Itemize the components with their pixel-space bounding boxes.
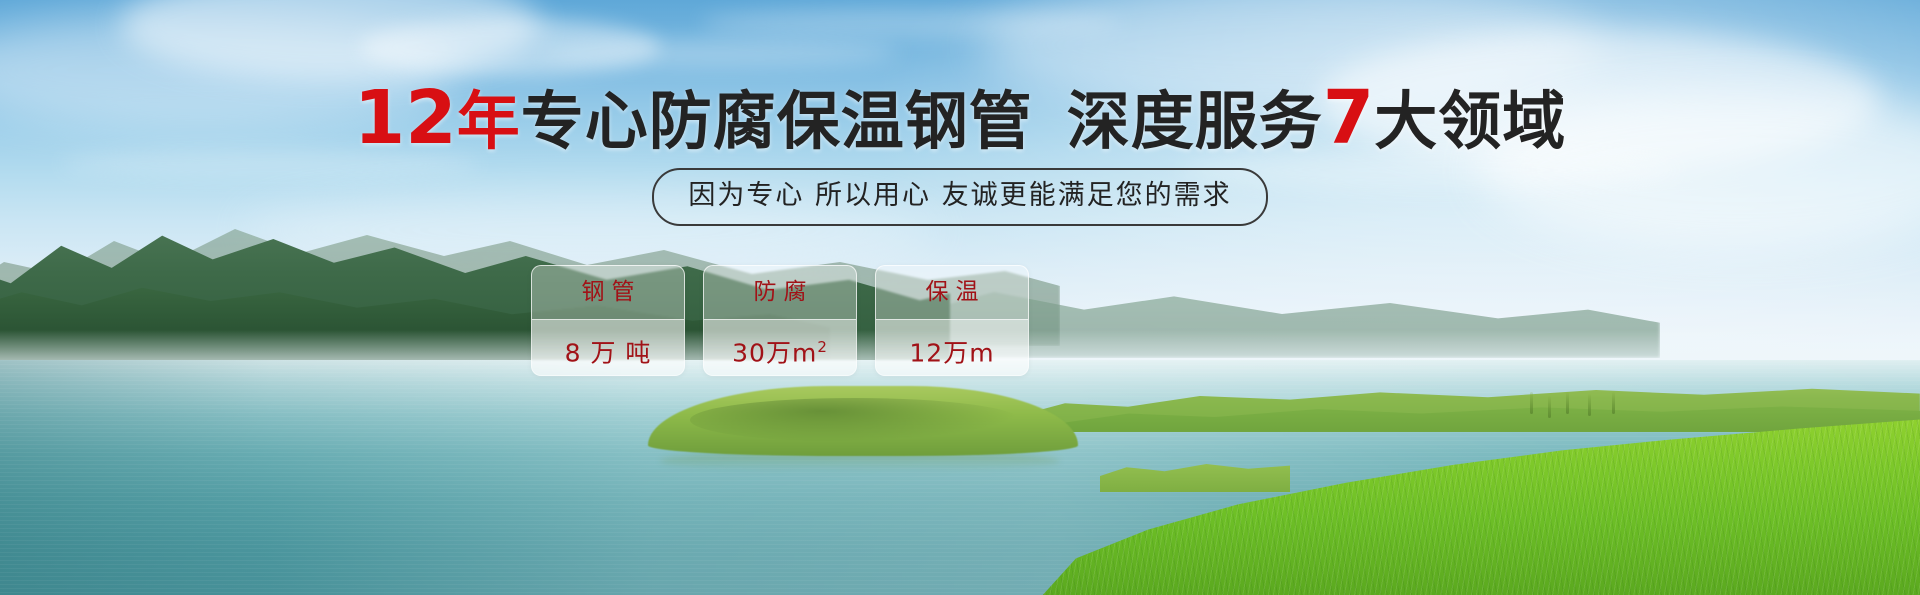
stat-card-value: 30万m2	[704, 320, 856, 375]
page-title: 12年专心防腐保温钢管深度服务7大领域	[0, 80, 1920, 160]
stat-card-title: 保温	[876, 266, 1028, 320]
stat-card[interactable]: 防腐 30万m2	[703, 265, 857, 376]
stat-value-text: 8 万 吨	[565, 338, 652, 367]
banner-content: 12年专心防腐保温钢管深度服务7大领域 因为专心 所以用心 友诚更能满足您的需求…	[0, 0, 1920, 595]
headline-service-text: 深度服务	[1067, 85, 1323, 158]
stat-card-value: 8 万 吨	[532, 320, 684, 375]
headline-fields-number: 7	[1323, 75, 1375, 161]
headline-main-text: 专心防腐保温钢管	[521, 85, 1033, 158]
stat-card-value: 12万m	[876, 320, 1028, 375]
stat-value-text: 30万m	[732, 338, 817, 367]
stat-value-superscript: 2	[817, 338, 828, 356]
stat-card[interactable]: 保温 12万m	[875, 265, 1029, 376]
stat-card[interactable]: 钢管 8 万 吨	[531, 265, 685, 376]
subtitle-container: 因为专心 所以用心 友诚更能满足您的需求	[0, 168, 1920, 226]
subtitle-pill: 因为专心 所以用心 友诚更能满足您的需求	[652, 168, 1267, 226]
headline-years-unit: 年	[457, 85, 521, 158]
stat-card-title: 防腐	[704, 266, 856, 320]
headline-years-number: 12	[354, 75, 457, 161]
hero-banner: 12年专心防腐保温钢管深度服务7大领域 因为专心 所以用心 友诚更能满足您的需求…	[0, 0, 1920, 595]
stat-value-text: 12万m	[909, 338, 994, 367]
headline-fields-text: 大领域	[1374, 85, 1566, 158]
stat-card-title: 钢管	[532, 266, 684, 320]
stats-card-group: 钢管 8 万 吨 防腐 30万m2 保温 12万m	[531, 265, 1029, 376]
